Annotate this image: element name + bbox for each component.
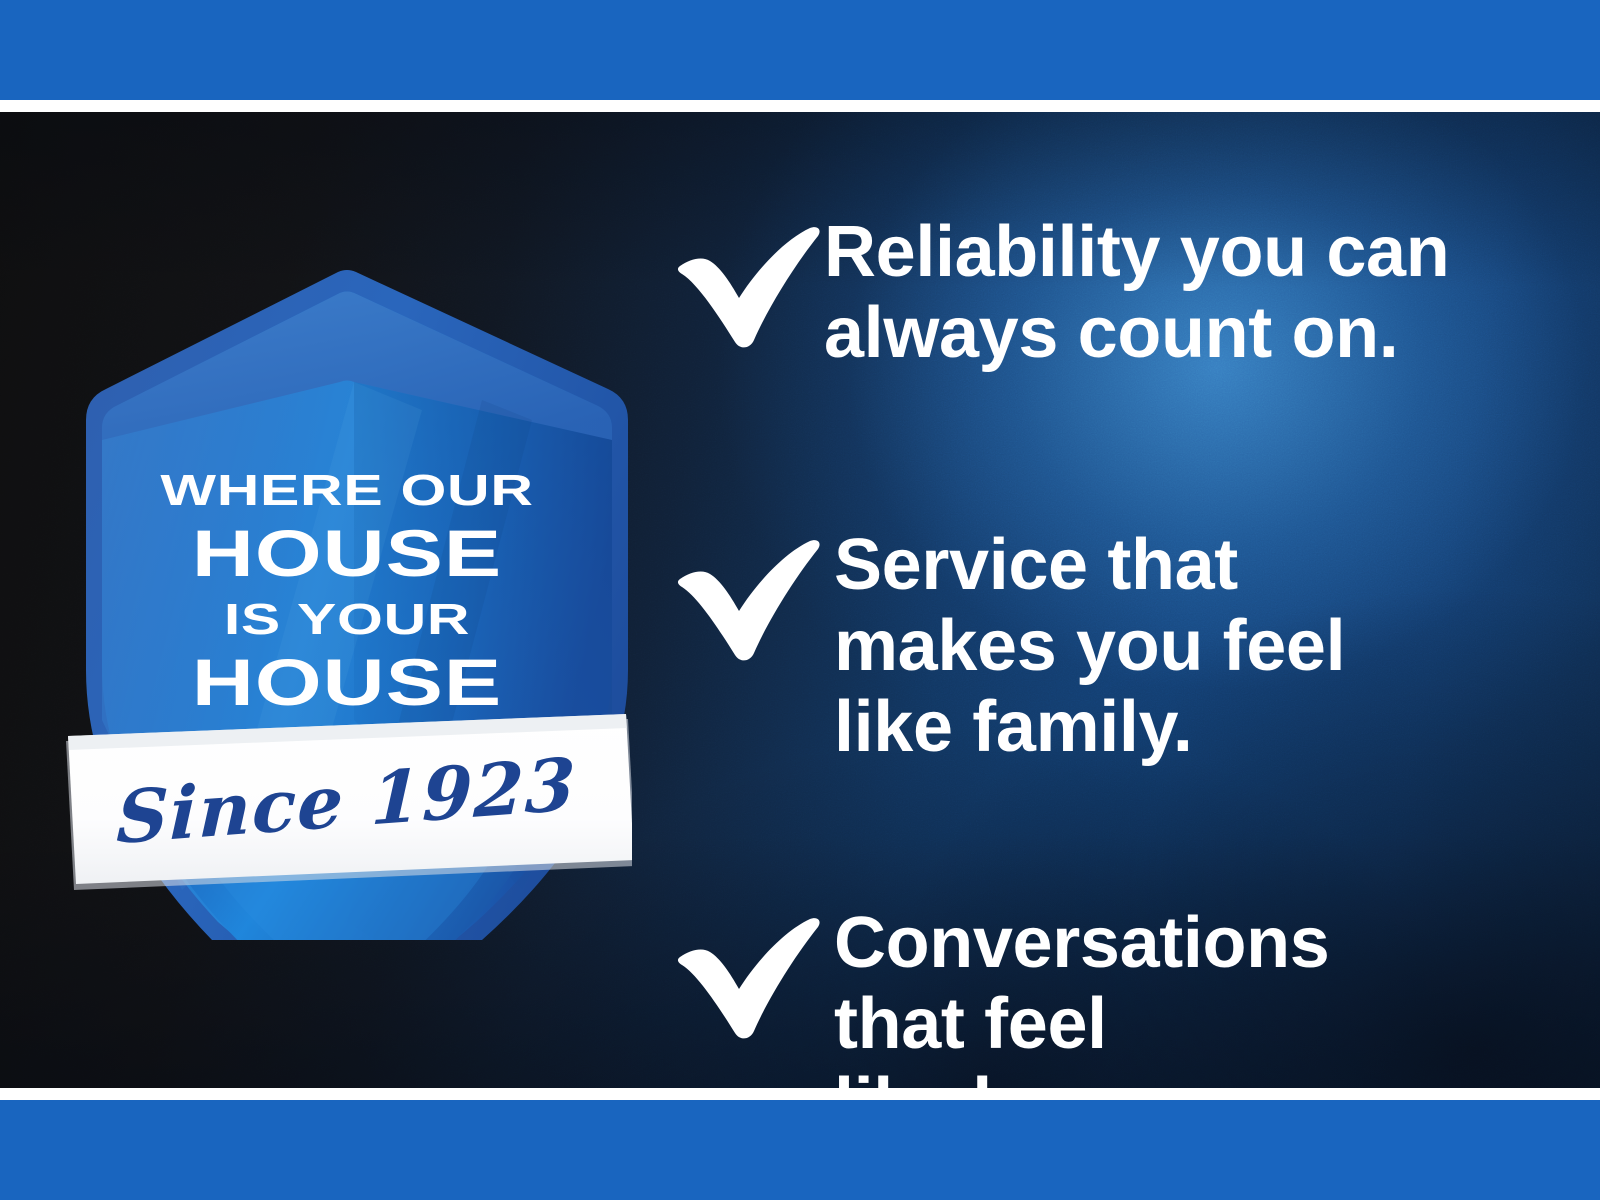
promo-graphic: WHERE OUR HOUSE IS YOUR HOUSE Since 1923…	[0, 0, 1600, 1200]
benefits-list: Reliability you can always count on. Ser…	[672, 208, 1552, 1088]
benefit-text: Conversations that feel like home.	[834, 899, 1552, 1088]
bottom-brand-band	[0, 1100, 1600, 1200]
top-brand-band	[0, 0, 1600, 100]
list-item: Service that makes you feel like family.	[672, 521, 1552, 767]
ribbon-banner	[66, 714, 632, 890]
list-item: Conversations that feel like home.	[672, 899, 1552, 1088]
shield-graphic	[62, 250, 632, 940]
top-white-seam	[0, 100, 1600, 112]
checkmark-icon	[672, 917, 824, 1041]
benefit-text: Service that makes you feel like family.	[834, 521, 1552, 767]
main-canvas: WHERE OUR HOUSE IS YOUR HOUSE Since 1923…	[0, 112, 1600, 1088]
benefit-text: Reliability you can always count on.	[824, 208, 1552, 373]
checkmark-icon	[672, 539, 824, 663]
list-item: Reliability you can always count on.	[672, 208, 1552, 373]
checkmark-icon	[672, 226, 824, 350]
company-shield-logo: WHERE OUR HOUSE IS YOUR HOUSE Since 1923	[62, 250, 632, 940]
bottom-white-seam	[0, 1088, 1600, 1100]
